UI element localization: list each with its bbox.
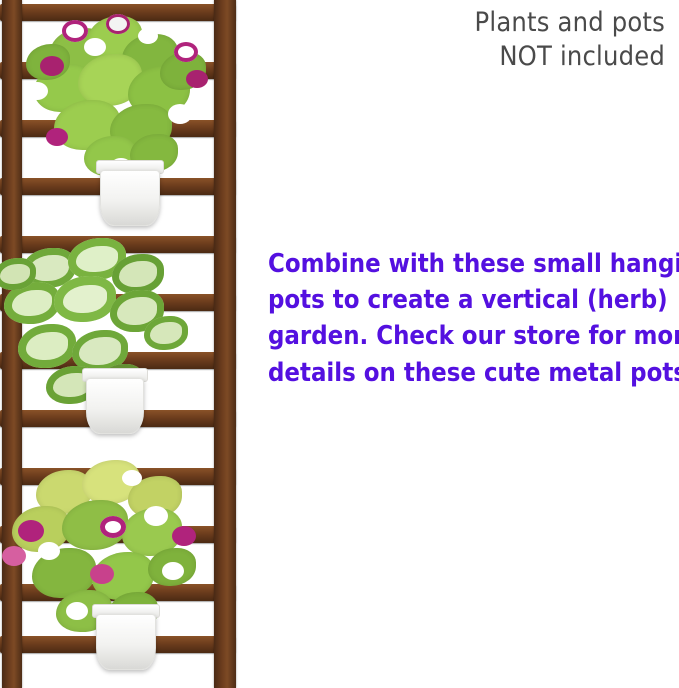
headline-line-1: Plants and pots (245, 6, 665, 40)
wood-slat (0, 294, 236, 311)
body-line-3: garden. Check our store for more (268, 318, 668, 354)
wood-slat (0, 584, 236, 601)
product-image-canvas: Plants and pots NOT included Combine wit… (0, 0, 679, 688)
wood-rail-right (214, 0, 236, 688)
pot-middle (86, 378, 144, 434)
wood-rail-left (2, 0, 22, 688)
body-line-2: pots to create a vertical (herb) (268, 282, 668, 318)
wood-slat (0, 236, 236, 253)
wood-slat (0, 352, 236, 369)
body-text: Combine with these small hanging pots to… (268, 246, 668, 391)
product-photo (0, 0, 250, 688)
wood-slat (0, 468, 236, 485)
wood-slat (0, 120, 236, 137)
pot-top (100, 170, 160, 226)
body-line-4: details on these cute metal pots (268, 355, 668, 391)
pot-bottom (96, 614, 156, 670)
wood-slat (0, 62, 236, 79)
headline-line-2: NOT included (245, 40, 665, 74)
wood-slat (0, 526, 236, 543)
wood-slat (0, 4, 236, 21)
body-line-1: Combine with these small hanging (268, 246, 668, 282)
headline-text: Plants and pots NOT included (245, 6, 665, 74)
